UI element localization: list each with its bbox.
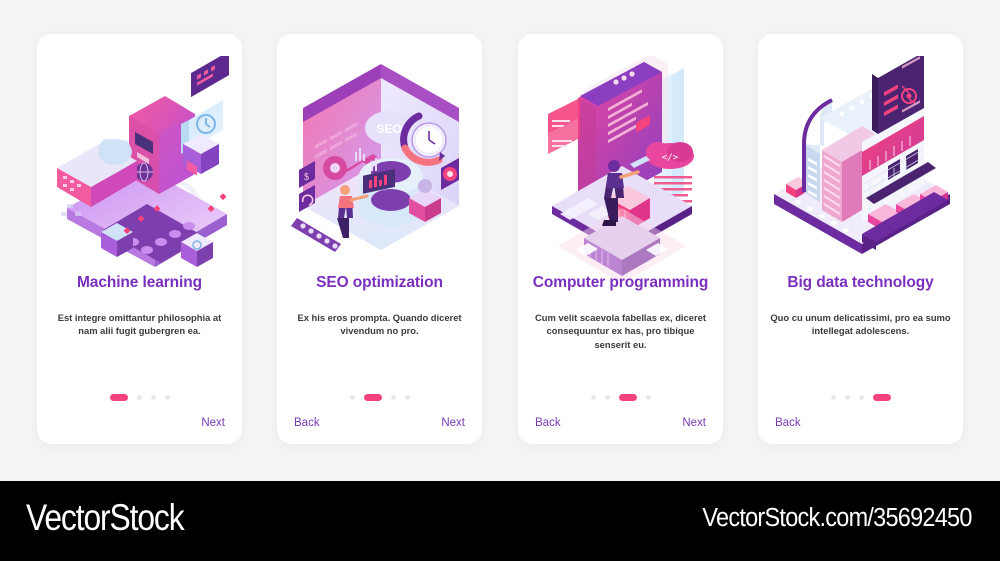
card-nav: Next xyxy=(54,414,225,434)
nav-spacer xyxy=(945,424,946,425)
card-description: Est integre omittantur philosophia at na… xyxy=(49,311,230,338)
pagination-dot-4[interactable] xyxy=(405,395,410,400)
illustration-machine-learning-conveyor xyxy=(37,56,242,281)
svg-text:$: $ xyxy=(304,172,309,183)
illustration-big-data-datacenter xyxy=(758,56,963,281)
svg-text:SEO: SEO xyxy=(376,122,401,136)
pagination-dot-1[interactable] xyxy=(831,395,836,400)
illustration-computer-programming: </> xyxy=(518,56,723,281)
onboarding-card-machine-learning[interactable]: Machine learning Est integre omittantur … xyxy=(37,34,242,444)
pagination-dot-3[interactable] xyxy=(151,395,156,400)
svg-text:</>: </> xyxy=(662,153,679,163)
back-button[interactable]: Back xyxy=(294,418,320,430)
pagination-dot-3[interactable] xyxy=(619,394,637,401)
pagination-dots[interactable] xyxy=(758,392,963,402)
pagination-dot-4[interactable] xyxy=(873,394,891,401)
card-title: Machine learning xyxy=(37,274,242,292)
pagination-dot-1[interactable] xyxy=(350,395,355,400)
pagination-dots[interactable] xyxy=(277,392,482,402)
next-button[interactable]: Next xyxy=(682,418,706,430)
nav-spacer xyxy=(54,424,55,425)
pagination-dot-3[interactable] xyxy=(391,395,396,400)
card-title: Big data technology xyxy=(758,274,963,292)
pagination-dot-1[interactable] xyxy=(110,394,128,401)
back-button[interactable]: Back xyxy=(535,418,561,430)
back-button[interactable]: Back xyxy=(775,418,801,430)
next-button[interactable]: Next xyxy=(201,418,225,430)
pagination-dot-1[interactable] xyxy=(591,395,596,400)
pagination-dot-2[interactable] xyxy=(137,395,142,400)
pagination-dots[interactable] xyxy=(518,392,723,402)
card-title: SEO optimization xyxy=(277,274,482,292)
vectorstock-logo: VectorStock xyxy=(26,497,184,539)
onboarding-card-seo-optimization[interactable]: 0000 0000 0000 0000 0000 0000 $ xyxy=(277,34,482,444)
onboarding-card-computer-programming[interactable]: </> xyxy=(518,34,723,444)
pagination-dot-2[interactable] xyxy=(845,395,850,400)
watermark-url: VectorStock.com/35692450 xyxy=(703,504,972,533)
next-button[interactable]: Next xyxy=(441,418,465,430)
card-description: Ex his eros prompta. Quando diceret vive… xyxy=(289,311,470,338)
onboarding-screens-stage: Machine learning Est integre omittantur … xyxy=(0,0,1000,481)
card-description: Quo cu unum delicatissimi, pro ea sumo i… xyxy=(770,311,951,338)
illustration-seo-optimization: 0000 0000 0000 0000 0000 0000 $ xyxy=(277,56,482,281)
watermark-footer: VectorStock VectorStock.com/35692450 xyxy=(0,481,1000,561)
card-nav: Back Next xyxy=(535,414,706,434)
pagination-dot-4[interactable] xyxy=(165,395,170,400)
onboarding-card-big-data-technology[interactable]: Big data technology Quo cu unum delicati… xyxy=(758,34,963,444)
card-title: Computer programming xyxy=(518,274,723,292)
pagination-dot-2[interactable] xyxy=(605,395,610,400)
card-nav: Back Next xyxy=(294,414,465,434)
pagination-dot-3[interactable] xyxy=(859,395,864,400)
card-description: Cum velit scaevola fabellas ex, diceret … xyxy=(530,311,711,351)
card-nav: Back xyxy=(775,414,946,434)
pagination-dot-4[interactable] xyxy=(646,395,651,400)
pagination-dots[interactable] xyxy=(37,392,242,402)
pagination-dot-2[interactable] xyxy=(364,394,382,401)
